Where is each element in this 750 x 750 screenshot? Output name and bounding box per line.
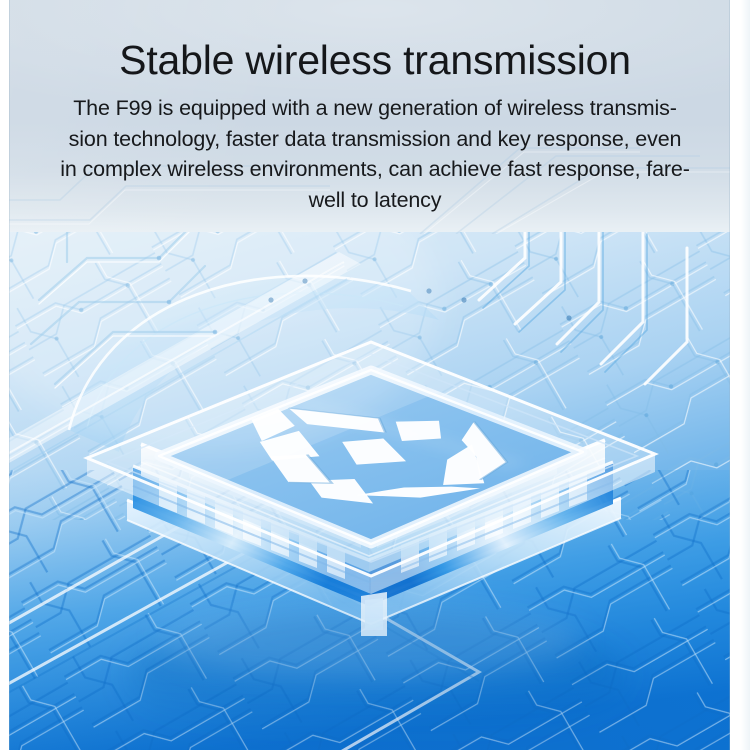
description-line: well to latency	[14, 185, 736, 216]
page-description: The F99 is equipped with a new generatio…	[14, 93, 736, 215]
description-line: sion technology, faster data transmissio…	[14, 124, 736, 155]
frame-left-hairline	[9, 0, 10, 750]
product-feature-banner: Stable wireless transmission The F99 is …	[0, 0, 750, 750]
header-band: Stable wireless transmission The F99 is …	[0, 0, 750, 232]
frame-right-margin	[730, 0, 750, 750]
description-line: in complex wireless environments, can ac…	[14, 154, 736, 185]
frame-left-margin	[0, 0, 9, 750]
page-title: Stable wireless transmission	[0, 0, 750, 85]
frame-right-hairline	[729, 0, 730, 750]
header-text-block: Stable wireless transmission The F99 is …	[0, 0, 750, 215]
description-line: The F99 is equipped with a new generatio…	[14, 93, 736, 124]
